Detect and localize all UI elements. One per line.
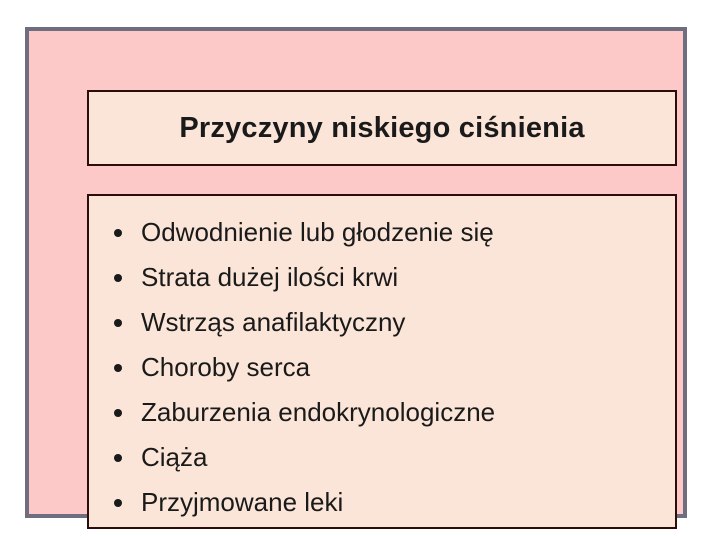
bullet-point-icon <box>114 499 122 507</box>
bullet-point-icon <box>114 454 122 462</box>
content-box: Odwodnienie lub głodzenie się Strata duż… <box>87 194 677 529</box>
bullet-point-icon <box>114 364 122 372</box>
list-item-label: Choroby serca <box>141 352 310 382</box>
bullet-point-icon <box>114 319 122 327</box>
list-item: Wstrząs anafilaktyczny <box>89 300 675 345</box>
causes-bullet-list: Odwodnienie lub głodzenie się Strata duż… <box>89 210 675 525</box>
list-item: Zaburzenia endokrynologiczne <box>89 390 675 435</box>
outer-frame-panel: Przyczyny niskiego ciśnienia Odwodnienie… <box>25 27 687 518</box>
list-item-label: Ciąża <box>141 442 207 472</box>
list-item: Strata dużej ilości krwi <box>89 255 675 300</box>
list-item-label: Wstrząs anafilaktyczny <box>141 307 405 337</box>
bullet-point-icon <box>114 229 122 237</box>
page-title: Przyczyny niskiego ciśnienia <box>179 112 584 145</box>
list-item: Odwodnienie lub głodzenie się <box>89 210 675 255</box>
list-item-label: Zaburzenia endokrynologiczne <box>141 397 495 427</box>
list-item: Ciąża <box>89 435 675 480</box>
list-item-label: Strata dużej ilości krwi <box>141 262 398 292</box>
slide-canvas: Przyczyny niskiego ciśnienia Odwodnienie… <box>0 0 711 536</box>
list-item-label: Przyjmowane leki <box>141 487 343 517</box>
list-item-label: Odwodnienie lub głodzenie się <box>141 217 494 247</box>
title-box: Przyczyny niskiego ciśnienia <box>87 90 677 166</box>
list-item: Choroby serca <box>89 345 675 390</box>
bullet-point-icon <box>114 274 122 282</box>
bullet-point-icon <box>114 409 122 417</box>
list-item: Przyjmowane leki <box>89 480 675 525</box>
